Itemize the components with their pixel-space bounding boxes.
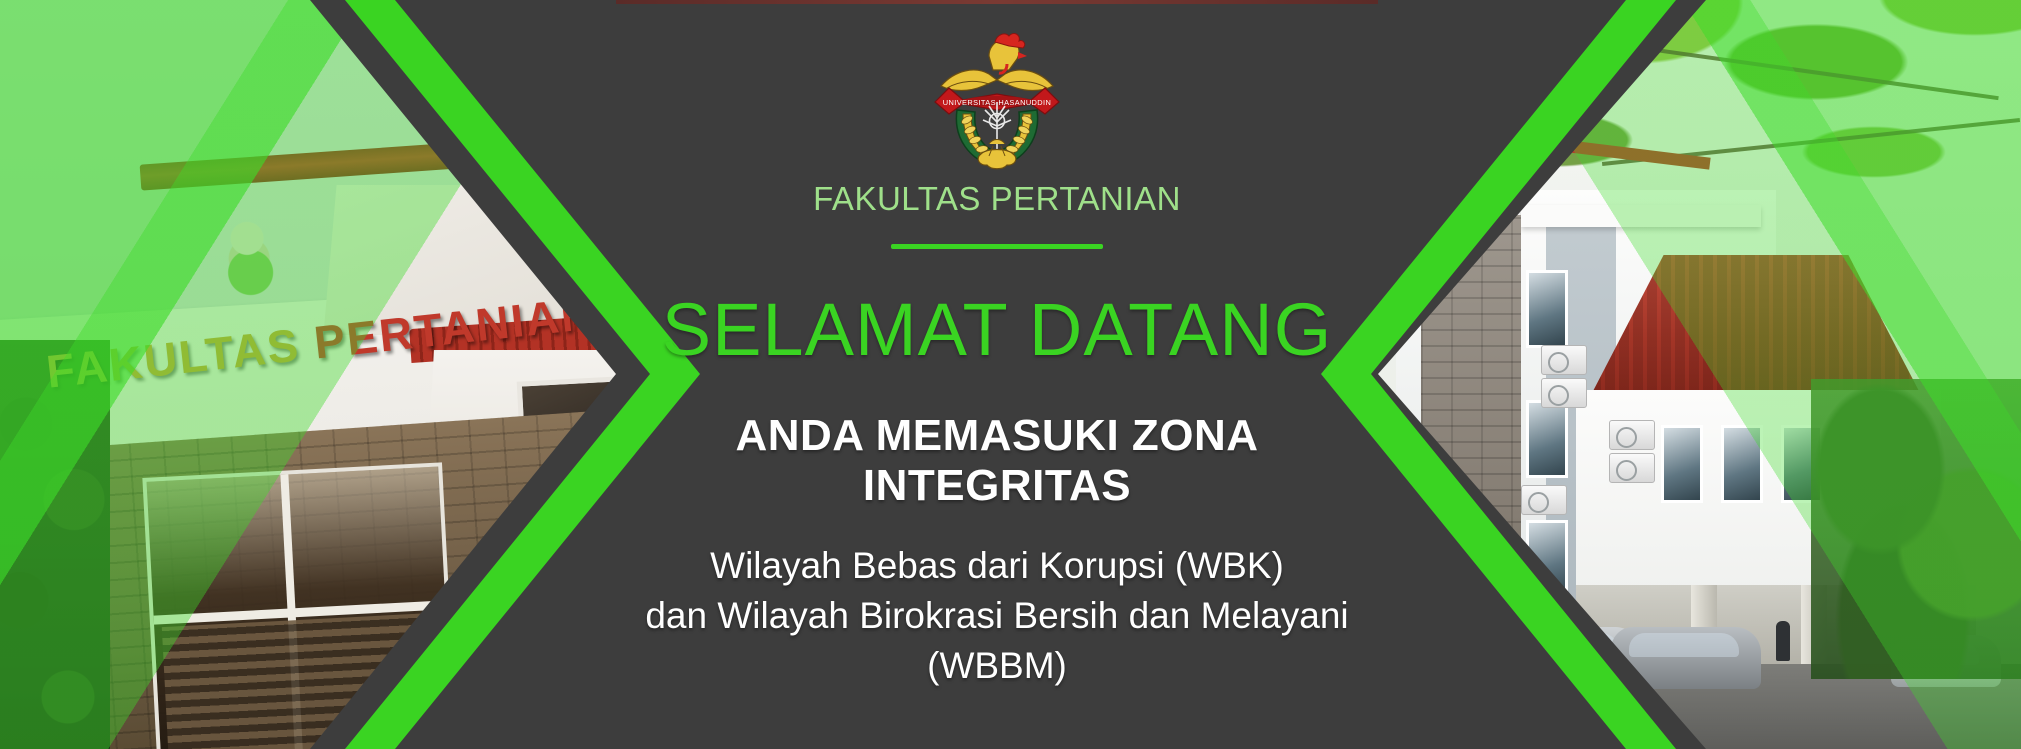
green-divider xyxy=(891,244,1103,249)
welcome-banner: FAKULTAS PERTANIAN xyxy=(0,0,2021,749)
faculty-title: FAKULTAS PERTANIAN xyxy=(813,180,1181,218)
wbbm-line: dan Wilayah Birokrasi Bersih dan Melayan… xyxy=(616,591,1378,691)
window xyxy=(1721,425,1763,503)
air-conditioner-unit xyxy=(1541,378,1587,408)
foliage xyxy=(0,340,110,749)
university-logo: UNIVERSITAS HASANUDDIN xyxy=(923,26,1071,174)
air-conditioner-unit xyxy=(1521,485,1567,515)
air-conditioner-unit xyxy=(1541,345,1587,375)
wbk-wbbm-text: Wilayah Bebas dari Korupsi (WBK) dan Wil… xyxy=(616,541,1378,691)
window xyxy=(1661,425,1703,503)
integrity-zone-subheadline: ANDA MEMASUKI ZONA INTEGRITAS xyxy=(616,411,1378,511)
banner-content: UNIVERSITAS HASANUDDIN xyxy=(616,0,1378,749)
welcome-headline: SELAMAT DATANG xyxy=(662,293,1333,367)
person xyxy=(1776,621,1790,661)
air-conditioner-unit xyxy=(1609,453,1655,483)
wbk-line: Wilayah Bebas dari Korupsi (WBK) xyxy=(616,541,1378,591)
building-emblem-icon xyxy=(206,214,292,300)
window xyxy=(1526,270,1568,348)
window xyxy=(1526,400,1568,478)
roadside-shrubs xyxy=(1811,379,2021,679)
cornice xyxy=(1521,205,1761,227)
air-conditioner-unit xyxy=(1609,420,1655,450)
top-edge-sliver xyxy=(616,0,1378,4)
